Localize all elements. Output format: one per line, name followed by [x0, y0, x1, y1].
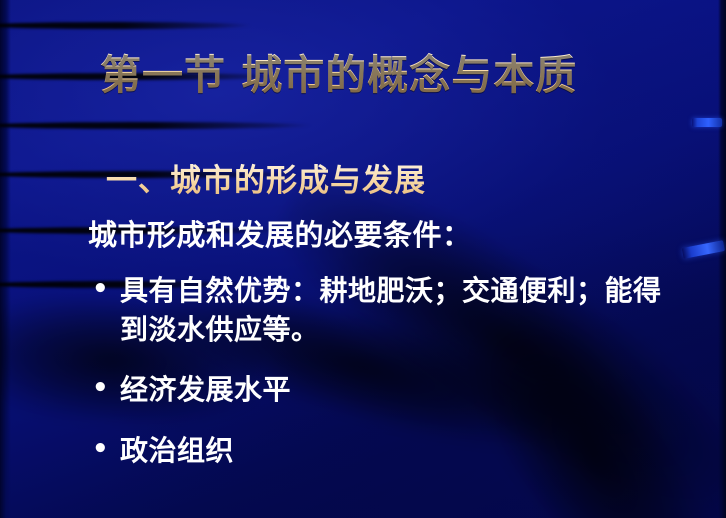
- section-heading: 一、城市的形成与发展: [106, 163, 426, 200]
- slide-content: 第一节 城市的概念与本质 一、城市的形成与发展 城市形成和发展的必要条件： • …: [0, 0, 726, 518]
- bullet-dot-icon: •: [92, 432, 120, 468]
- slide-title: 第一节 城市的概念与本质: [100, 52, 577, 99]
- bullet-text: 具有自然优势：耕地肥沃；交通便利；能得到淡水供应等。: [120, 272, 672, 349]
- bullet-list: • 具有自然优势：耕地肥沃；交通便利；能得到淡水供应等。 • 经济发展水平 • …: [92, 272, 672, 471]
- lead-line: 城市形成和发展的必要条件：: [88, 218, 472, 253]
- bullet-dot-icon: •: [92, 272, 120, 308]
- list-item: • 政治组织: [92, 432, 672, 471]
- bullet-text: 经济发展水平: [120, 371, 672, 410]
- list-item: • 具有自然优势：耕地肥沃；交通便利；能得到淡水供应等。: [92, 272, 672, 349]
- list-item: • 经济发展水平: [92, 371, 672, 410]
- presentation-slide: 第一节 城市的概念与本质 一、城市的形成与发展 城市形成和发展的必要条件： • …: [0, 0, 726, 518]
- bullet-dot-icon: •: [92, 371, 120, 407]
- bullet-text: 政治组织: [120, 432, 672, 471]
